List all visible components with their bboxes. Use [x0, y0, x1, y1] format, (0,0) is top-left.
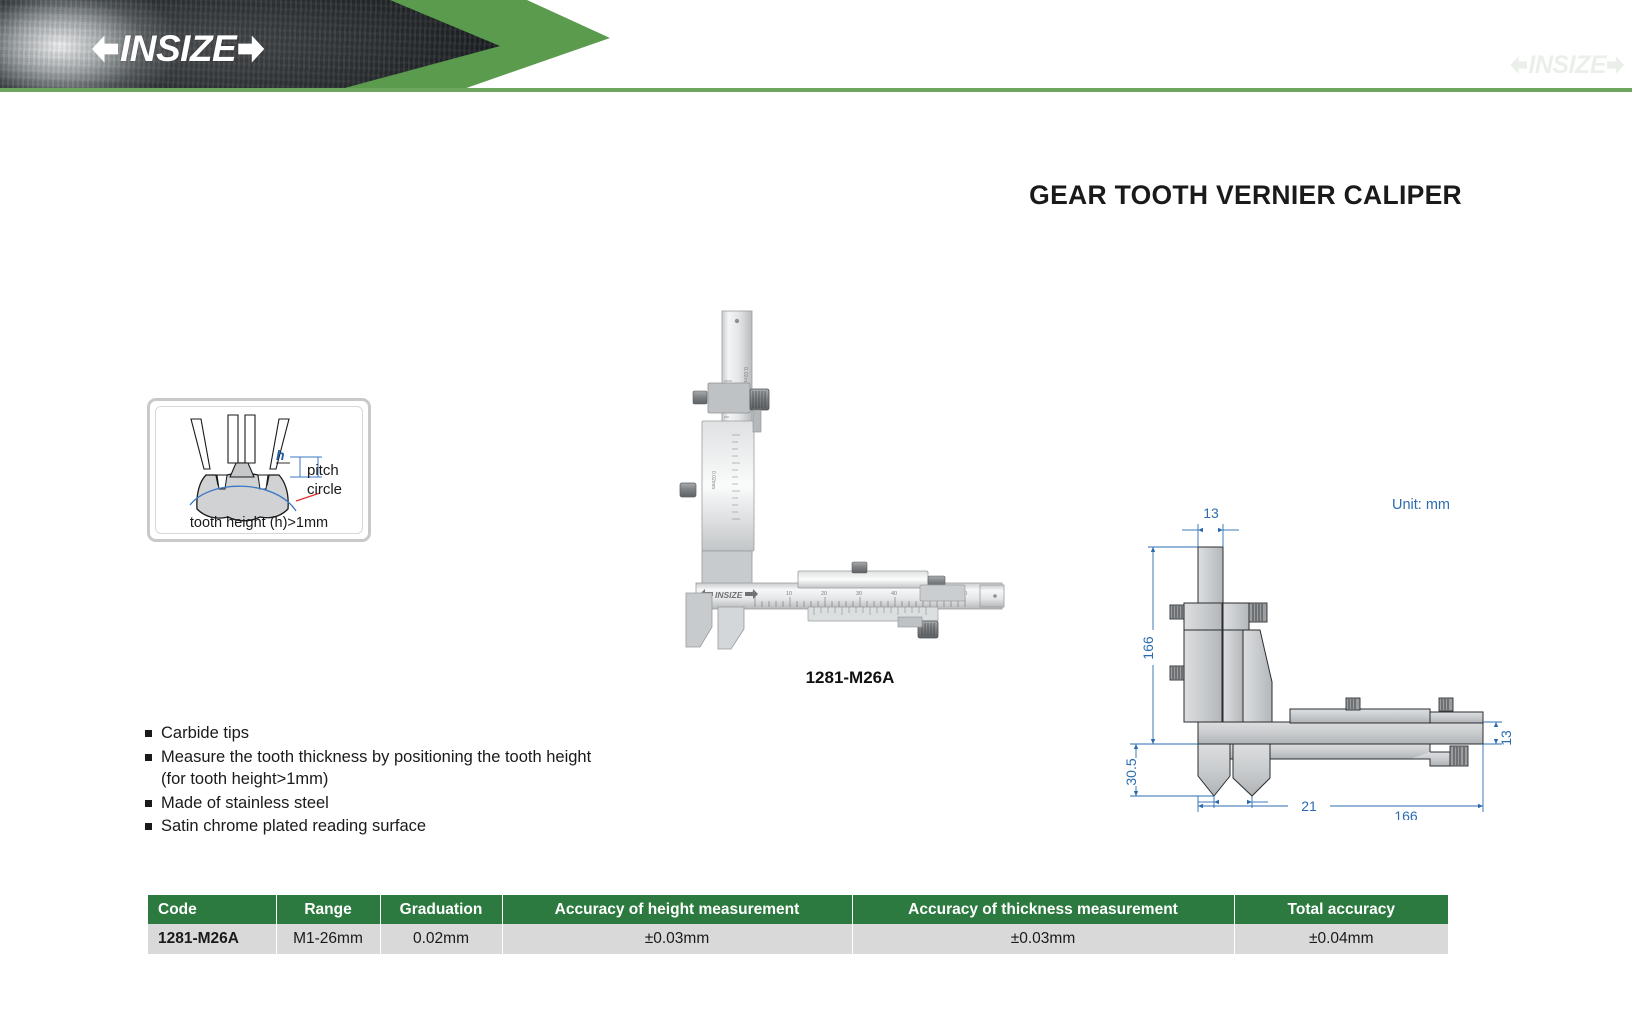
cell-graduation: 0.02mm	[380, 924, 502, 954]
dimension-beam-thickness: 13	[1498, 730, 1514, 746]
watermark-right-arrow-icon	[1607, 56, 1624, 74]
feature-list: Carbide tips Measure the tooth thickness…	[145, 722, 615, 839]
knob-stem	[753, 410, 761, 432]
dimension-top-width: 13	[1203, 505, 1219, 521]
caliper-illustration-svg: 0.02mm 0.02mm	[640, 285, 1060, 655]
page-title: GEAR TOOTH VERNIER CALIPER	[1029, 180, 1462, 211]
knob-bracket	[898, 617, 922, 627]
list-item: Made of stainless steel	[145, 792, 615, 815]
feature-text: Made of stainless steel	[161, 792, 615, 815]
vertical-beam-pin	[735, 319, 739, 323]
gear-center-tooth	[230, 463, 254, 477]
column-header-range: Range	[276, 895, 380, 924]
knurled-screw-icon	[1346, 698, 1360, 710]
datasheet-page: INSIZE INSIZE GEAR TOOTH VERNIER CALIPER	[0, 0, 1632, 1025]
measurement-principle-illustration: h pitch circle tooth height (h)>1mm	[147, 398, 371, 542]
feature-text: Carbide tips	[161, 722, 615, 745]
knurled-screw-icon	[1450, 746, 1468, 766]
header-bottom-rule	[0, 88, 1632, 92]
table-header-row: Code Range Graduation Accuracy of height…	[148, 895, 1448, 924]
list-item: Measure the tooth thickness by positioni…	[145, 746, 615, 791]
watermark-wordmark: INSIZE	[1527, 52, 1607, 78]
vertical-top-clamp	[708, 383, 750, 413]
column-header-accuracy-height: Accuracy of height measurement	[502, 895, 852, 924]
cell-total-accuracy: ±0.04mm	[1234, 924, 1448, 954]
knurled-screw-icon	[1439, 698, 1453, 711]
svg-text:20: 20	[821, 591, 827, 597]
dimension-beam-length: 166	[1394, 808, 1418, 820]
logo-wordmark: INSIZE	[118, 30, 238, 68]
beam-end-cap	[980, 585, 1004, 607]
cell-range: M1-26mm	[276, 924, 380, 954]
fixed-measuring-jaw	[686, 593, 712, 647]
cell-accuracy-thickness: ±0.03mm	[852, 924, 1234, 954]
column-header-accuracy-thickness: Accuracy of thickness measurement	[852, 895, 1234, 924]
pitch-circle-label-line1: pitch	[307, 461, 342, 480]
h-dimension-label: h	[276, 447, 285, 463]
left-inner-jaw	[228, 415, 238, 463]
column-header-total-accuracy: Total accuracy	[1234, 895, 1448, 924]
insize-logo: INSIZE	[92, 30, 264, 68]
list-item: Carbide tips	[145, 722, 615, 745]
header-white-block	[455, 0, 1632, 92]
specification-table: Code Range Graduation Accuracy of height…	[148, 895, 1448, 954]
thumb-screw-icon	[852, 562, 867, 573]
product-photo: 0.02mm 0.02mm	[640, 285, 1060, 655]
caliper-jaws-group	[191, 415, 289, 469]
vertical-slider	[702, 421, 754, 551]
column-header-code: Code	[148, 895, 276, 924]
watermark-left-arrow-icon	[1510, 56, 1527, 74]
knurled-screw-icon	[1249, 603, 1267, 622]
product-model-caption: 1281-M26A	[640, 668, 1060, 688]
table-row: 1281-M26A M1-26mm 0.02mm ±0.03mm ±0.03mm…	[148, 924, 1448, 954]
bullet-square-icon	[145, 823, 152, 830]
list-item: Satin chrome plated reading surface	[145, 815, 615, 838]
pitch-circle-label-line2: circle	[307, 480, 342, 499]
svg-text:30: 30	[856, 591, 862, 597]
dimension-beam-height: 166	[1140, 636, 1156, 660]
svg-text:10: 10	[786, 591, 792, 597]
right-inner-jaw	[245, 415, 255, 463]
page-header: INSIZE INSIZE	[0, 0, 1632, 92]
thumb-screw-icon	[693, 391, 707, 404]
column-header-graduation: Graduation	[380, 895, 502, 924]
dimension-jaw-width: 21	[1301, 798, 1317, 814]
pitch-circle-label: pitch circle	[307, 461, 342, 499]
cell-accuracy-height: ±0.03mm	[502, 924, 852, 954]
svg-text:INSIZE: INSIZE	[715, 590, 743, 600]
horizontal-slider	[798, 571, 928, 588]
illustration-caption: tooth height (h)>1mm	[150, 515, 368, 531]
logo-right-arrow-icon	[238, 36, 264, 63]
thumb-screw-icon	[680, 483, 696, 497]
dimension-jaw-depth: 30.5	[1123, 758, 1139, 785]
dimensioned-drawing-svg: 13 166 30.5 21 166 13	[1120, 490, 1520, 820]
technical-drawing: 13 166 30.5 21 166 13	[1120, 490, 1520, 820]
svg-text:40: 40	[891, 591, 897, 597]
beam-end-pin	[993, 594, 997, 598]
knurled-screw-icon	[1170, 605, 1184, 619]
left-outer-jaw	[191, 419, 210, 469]
gear-slot-right	[258, 475, 268, 489]
feature-text: Measure the tooth thickness by positioni…	[161, 746, 615, 791]
svg-text:0: 0	[752, 591, 755, 597]
horizontal-slider-block	[920, 585, 965, 601]
cell-code: 1281-M26A	[148, 924, 276, 954]
bullet-square-icon	[145, 730, 152, 737]
knurled-screw-icon	[1170, 666, 1184, 680]
logo-left-arrow-icon	[92, 36, 118, 63]
bullet-square-icon	[145, 800, 152, 807]
insize-logo-watermark: INSIZE	[1510, 52, 1624, 78]
feature-text: Satin chrome plated reading surface	[161, 815, 615, 838]
movable-measuring-jaw	[718, 607, 744, 649]
vertical-slider-graduation-text: 0.02mm	[710, 471, 716, 489]
bullet-square-icon	[145, 754, 152, 761]
